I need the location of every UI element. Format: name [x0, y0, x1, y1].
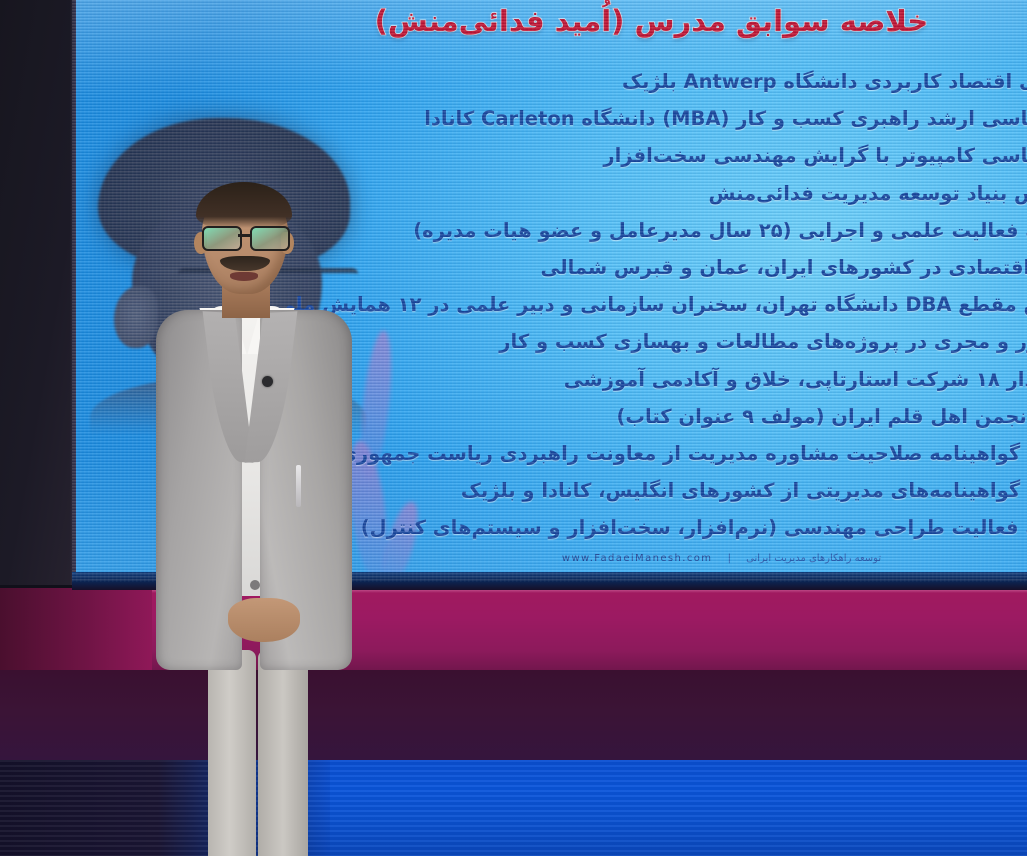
- speaker-hair: [196, 182, 292, 228]
- speaker-glasses-icon: [196, 226, 294, 248]
- speaker-jacket-button: [250, 580, 260, 590]
- slide-footer-website: www.FadaeiManesh.com: [562, 553, 713, 564]
- pocket-pen-icon: [296, 465, 301, 507]
- stage-left-wall: [0, 0, 76, 585]
- slide-line: کارشناسی ارشد راهبری کسب و کار (MBA) دان…: [72, 109, 1027, 146]
- speaker-trouser-right: [258, 650, 308, 856]
- slide-footer-separator: |: [728, 553, 731, 564]
- speaker-trouser-left: [208, 650, 256, 856]
- speaker-figure: [150, 180, 380, 820]
- lapel-microphone-icon: [262, 376, 273, 387]
- stage-scene: خلاصه سوابق مدرس (اُمید فدائی‌منش) دکترا…: [0, 0, 1027, 856]
- speaker-hands: [228, 598, 300, 642]
- slide-title: خلاصه سوابق مدرس (اُمید فدائی‌منش): [272, 2, 1027, 41]
- slide-line: دکترای اقتصاد کاربردی دانشگاه Antwerp بل…: [72, 72, 1027, 109]
- slide-footer-tagline: توسعه راهکارهای مدیریت ایرانی: [746, 553, 881, 564]
- slide-line: کارشناسی کامپیوتر با گرایش مهندسی سخت‌اف…: [72, 146, 1027, 183]
- speaker-mouth: [230, 272, 258, 281]
- slide-footer: توسعه راهکارهای مدیریت ایرانی | www.Fada…: [432, 553, 1011, 564]
